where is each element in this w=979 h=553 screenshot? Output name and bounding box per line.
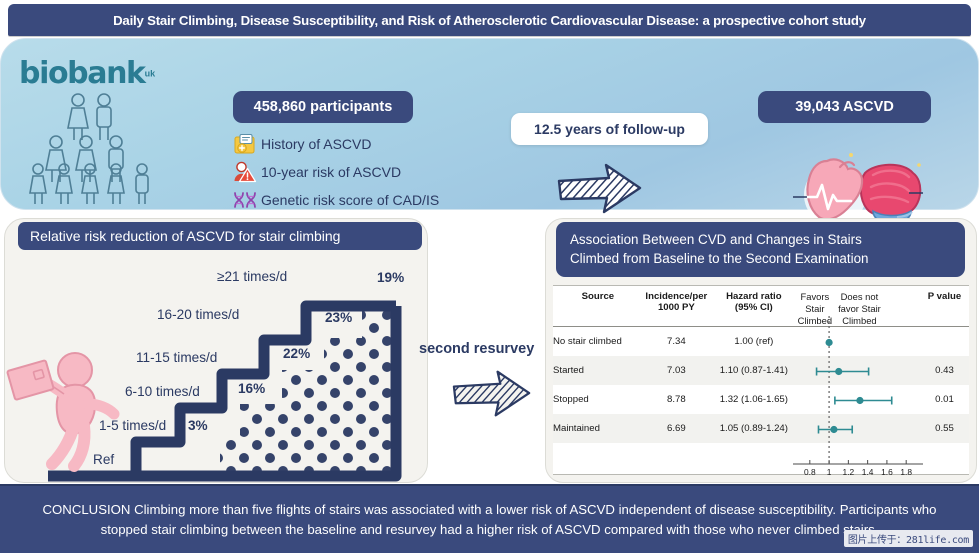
cell-source: Started bbox=[553, 356, 643, 385]
table-row: No stair climbed 7.34 1.00 (ref) bbox=[553, 327, 969, 356]
col-forest-labels: Favors Stair Climbed Does not favor Stai… bbox=[798, 286, 920, 327]
svg-text:1.6: 1.6 bbox=[881, 467, 893, 476]
col-incidence-line2: 1000 PY bbox=[643, 302, 710, 313]
stair-label-21plus: ≥21 times/d bbox=[217, 269, 287, 284]
dna-icon bbox=[229, 187, 261, 213]
stair-pct-16-20: 23% bbox=[325, 310, 352, 325]
notfavors-l3: Climbed bbox=[838, 315, 881, 327]
col-hazard-line2: (95% CI) bbox=[710, 302, 798, 313]
notfavors-l1: Does not bbox=[838, 291, 881, 303]
cohort-overview-panel: biobankuk bbox=[0, 38, 979, 210]
col-hazard-line1: Hazard ratio bbox=[710, 291, 798, 302]
cell-source: Maintained bbox=[553, 414, 643, 443]
page-title: Daily Stair Climbing, Disease Susceptibi… bbox=[8, 4, 971, 36]
hatched-arrow-second-icon bbox=[452, 368, 532, 420]
risk-item-genetic: Genetic risk score of CAD/IS bbox=[229, 187, 439, 213]
cell-forest-marker bbox=[798, 385, 920, 414]
biobank-wordmark: biobank bbox=[19, 56, 145, 91]
stair-label-11-15: 11-15 times/d bbox=[136, 350, 217, 365]
table-row: Stopped 8.78 1.32 (1.06-1.65) 0.01 bbox=[553, 385, 969, 414]
cell-forest-marker bbox=[798, 414, 920, 443]
conclusion-banner: CONCLUSION Climbing more than five fligh… bbox=[0, 484, 979, 553]
risk-item-10year: 10-year risk of ASCVD bbox=[229, 159, 439, 185]
cell-source: Stopped bbox=[553, 385, 643, 414]
ascvd-events-badge: 39,043 ASCVD bbox=[758, 91, 931, 123]
participants-badge: 458,860 participants bbox=[233, 91, 413, 123]
table-header-row: Source Incidence/per 1000 PY Hazard rati… bbox=[553, 286, 969, 327]
col-incidence: Incidence/per 1000 PY bbox=[643, 286, 710, 327]
cell-incidence: 6.69 bbox=[643, 414, 710, 443]
svg-text:0.8: 0.8 bbox=[804, 467, 816, 476]
col-source: Source bbox=[553, 286, 643, 327]
forest-header-line2: Climbed from Baseline to the Second Exam… bbox=[570, 250, 965, 268]
stair-label-16-20: 16-20 times/d bbox=[157, 307, 239, 322]
risk-item-label: Genetic risk score of CAD/IS bbox=[261, 192, 439, 208]
stair-label-1-5: 1-5 times/d bbox=[99, 418, 166, 433]
favors-l1: Favors bbox=[798, 291, 832, 303]
stair-pct-1-5: 3% bbox=[188, 418, 208, 433]
hatched-arrow-icon bbox=[557, 161, 643, 217]
cell-incidence: 7.03 bbox=[643, 356, 710, 385]
stair-pct-6-10: 16% bbox=[238, 381, 265, 396]
table-row: Maintained 6.69 1.05 (0.89-1.24) 0.55 bbox=[553, 414, 969, 443]
medical-record-icon bbox=[229, 131, 261, 157]
second-resurvey-label: second resurvey bbox=[419, 341, 534, 357]
person-warning-icon bbox=[229, 159, 261, 185]
forest-header-line1: Association Between CVD and Changes in S… bbox=[570, 231, 965, 249]
cell-forest-marker bbox=[798, 356, 920, 385]
watermark: 图片上传于：281life.com bbox=[844, 530, 973, 547]
risk-item-history: History of ASCVD bbox=[229, 131, 439, 157]
cell-pvalue bbox=[920, 327, 969, 356]
favors-stair-climbed-label: Favors Stair Climbed bbox=[798, 291, 832, 326]
biobank-logo: biobankuk bbox=[19, 59, 169, 89]
biobank-uk-superscript: uk bbox=[145, 69, 156, 79]
cell-source: No stair climbed bbox=[553, 327, 643, 356]
favors-l3: Climbed bbox=[798, 315, 832, 327]
cell-incidence: 7.34 bbox=[643, 327, 710, 356]
cell-incidence: 8.78 bbox=[643, 385, 710, 414]
forest-table: Source Incidence/per 1000 PY Hazard rati… bbox=[553, 285, 969, 475]
stairs-panel-header: Relative risk reduction of ASCVD for sta… bbox=[18, 222, 422, 250]
cell-pvalue: 0.55 bbox=[920, 414, 969, 443]
forest-panel-header: Association Between CVD and Changes in S… bbox=[556, 222, 965, 277]
svg-text:1: 1 bbox=[827, 467, 832, 476]
cell-hazard: 1.10 (0.87-1.41) bbox=[710, 356, 798, 385]
svg-text:1.4: 1.4 bbox=[862, 467, 874, 476]
cell-pvalue: 0.43 bbox=[920, 356, 969, 385]
stair-label-ref: Ref bbox=[93, 452, 114, 467]
infographic-page: Daily Stair Climbing, Disease Susceptibi… bbox=[0, 0, 979, 553]
risk-item-label: History of ASCVD bbox=[261, 136, 371, 152]
svg-text:1.2: 1.2 bbox=[843, 467, 855, 476]
favors-l2: Stair bbox=[798, 303, 832, 315]
cell-hazard: 1.32 (1.06-1.65) bbox=[710, 385, 798, 414]
col-incidence-line1: Incidence/per bbox=[643, 291, 710, 302]
walking-person-icon bbox=[7, 353, 114, 466]
does-not-favor-label: Does not favor Stair Climbed bbox=[838, 291, 881, 326]
risk-item-label: 10-year risk of ASCVD bbox=[261, 164, 401, 180]
stair-label-6-10: 6-10 times/d bbox=[125, 384, 200, 399]
cell-hazard: 1.05 (0.89-1.24) bbox=[710, 414, 798, 443]
risk-factor-list: History of ASCVD 10-year risk of ASCVD bbox=[229, 131, 439, 215]
stair-pct-21plus: 19% bbox=[377, 270, 404, 285]
people-group-icon bbox=[17, 91, 177, 207]
followup-badge: 12.5 years of follow-up bbox=[511, 113, 708, 145]
cell-hazard: 1.00 (ref) bbox=[710, 327, 798, 356]
table-row: Started 7.03 1.10 (0.87-1.41) 0.43 bbox=[553, 356, 969, 385]
table-body: No stair climbed 7.34 1.00 (ref) Started… bbox=[553, 327, 969, 443]
col-hazard-ratio: Hazard ratio (95% CI) bbox=[710, 286, 798, 327]
col-pvalue: P value bbox=[920, 286, 969, 327]
notfavors-l2: favor Stair bbox=[838, 303, 881, 315]
stair-pct-11-15: 22% bbox=[283, 346, 310, 361]
cell-forest-marker bbox=[798, 327, 920, 356]
svg-text:1.8: 1.8 bbox=[900, 467, 912, 476]
cell-pvalue: 0.01 bbox=[920, 385, 969, 414]
